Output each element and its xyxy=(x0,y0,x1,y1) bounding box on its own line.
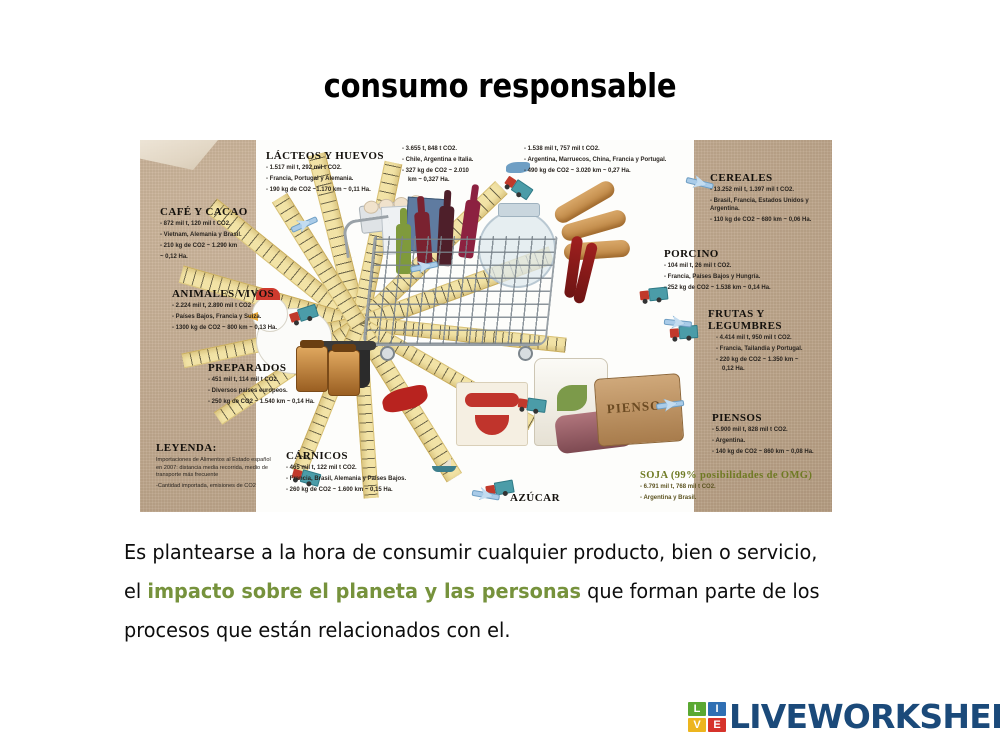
section-line-3: - 252 kg de CO2 ~ 1.538 km ~ 0,14 Ha. xyxy=(664,285,792,293)
pepper-illustration xyxy=(380,383,430,414)
slide-canvas: consumo responsable xyxy=(0,0,1000,750)
section-line-2: - Brasil, Francia, Estados Unidos y Arge… xyxy=(710,198,822,213)
section-animales-vivos: ANIMALES VIVOS - 2.224 mil t, 2.890 mil … xyxy=(172,288,304,336)
body-paragraph: Es plantearse a la hora de consumir cual… xyxy=(124,533,838,650)
section-lacteos-y-huevos: LÁCTEOS Y HUEVOS - 1.517 mil t, 292 mil … xyxy=(266,150,414,198)
section-line-2: - Diversos países europeos. xyxy=(208,388,340,396)
section-line-2: - Países Bajos, Francia y Suiza. xyxy=(172,314,304,322)
section-line-4: ~ 0,12 Ha. xyxy=(160,254,272,262)
section-line-2: - Chile, Argentina e Italia. xyxy=(402,157,516,165)
liveworksheets-wordmark: LIVEWORKSHEETS xyxy=(729,697,1000,736)
section-cereales: CEREALES - 13.252 mil t, 1.397 mil t CO2… xyxy=(710,172,822,228)
section-heading: ANIMALES VIVOS xyxy=(172,288,304,300)
logo-tile-e: E xyxy=(708,718,726,732)
feed-sack-illustration: PIENSO xyxy=(594,373,685,447)
section-line-1: - 465 mil t, 122 mil t CO2. xyxy=(286,465,436,473)
logo-tile-l: L xyxy=(688,702,706,716)
sugar-bag-illustration xyxy=(456,382,528,446)
section-heading: FRUTAS Y LEGUMBRES xyxy=(708,308,828,332)
section-line-3: - 327 kg de CO2 ~ 2.010 xyxy=(402,168,516,176)
section-heading: CAFÉ Y CACAO xyxy=(160,206,272,218)
section-heading: CÁRNICOS xyxy=(286,450,436,462)
truck-icon xyxy=(639,287,666,305)
section-line-1: - 2.224 mil t, 2.890 mil t CO2 xyxy=(172,303,304,311)
cart-wheel xyxy=(380,346,395,361)
section-line-3: - 260 kg de CO2 ~ 1.600 km ~ 0,15 Ha. xyxy=(286,487,436,495)
section-line-1: - 13.252 mil t, 1.397 mil t CO2. xyxy=(710,187,822,195)
section-line-3: - 190 kg de CO2 ~1.170 km ~ 0,11 Ha. xyxy=(266,187,414,195)
section-line-1: - 1.517 mil t, 292 mil t CO2. xyxy=(266,165,414,173)
legend-heading: LEYENDA: xyxy=(156,442,276,454)
section-line-2: - Francia, Portugal y Alemania. xyxy=(266,176,414,184)
section-line-3: - 1300 kg de CO2 ~ 800 km ~ 0,13 Ha. xyxy=(172,325,304,333)
feed-sack-label: PIENSO xyxy=(606,397,661,417)
section-line-2: - Argentina, Marruecos, China, Francia y… xyxy=(524,157,692,165)
section-line-1: - 6.791 mil t, 768 mil t CO2. xyxy=(640,484,820,492)
section-porcino: PORCINO - 104 mil t, 26 mil t CO2. - Fra… xyxy=(664,248,792,296)
section-line-1: - 4.414 mil t, 950 mil t CO2. xyxy=(708,335,828,343)
infographic-image: PIENSO CAFÉ Y CACAO - 872 mil t, 120 mil… xyxy=(140,140,832,512)
section-line-3: - 490 kg de CO2 ~ 3.020 km ~ 0,27 Ha. xyxy=(524,168,692,176)
section-frutas-y-legumbres: FRUTAS Y LEGUMBRES - 4.414 mil t, 950 mi… xyxy=(708,308,828,377)
cart-wheel xyxy=(518,346,533,361)
liveworksheets-logo-icon: L I V E xyxy=(688,702,726,732)
section-pescados: - 1.538 mil t, 757 mil t CO2. - Argentin… xyxy=(524,146,692,179)
azucar-label: AZÚCAR xyxy=(510,492,560,504)
section-line-4: 0,12 Ha. xyxy=(708,366,828,374)
logo-tile-i: I xyxy=(708,702,726,716)
section-line-1: - 1.538 mil t, 757 mil t CO2. xyxy=(524,146,692,154)
torn-paper-corner xyxy=(140,140,218,170)
cart-basket xyxy=(362,236,558,346)
section-heading: LÁCTEOS Y HUEVOS xyxy=(266,150,414,162)
page-title: consumo responsable xyxy=(60,66,940,105)
section-line-3: - 220 kg de CO2 ~ 1.350 km ~ xyxy=(708,357,828,365)
section-line-2: - Vietnam, Alemania y Brasil. xyxy=(160,232,272,240)
body-highlight: impacto sobre el planeta y las personas xyxy=(147,579,581,603)
liveworksheets-logo[interactable]: L I V E LIVEWORKSHEETS xyxy=(688,697,1000,736)
airplane-icon xyxy=(663,315,690,330)
section-carnicos: CÁRNICOS - 465 mil t, 122 mil t CO2. - F… xyxy=(286,450,436,498)
section-line-2: - Francia, Países Bajos y Hungría. xyxy=(664,274,792,282)
logo-tile-v: V xyxy=(688,718,706,732)
section-vinos: - 3.655 t, 848 t CO2. - Chile, Argentina… xyxy=(402,146,516,188)
section-line-2: - Argentina. xyxy=(712,438,832,446)
section-line-2: - Francia, Brasil, Alemania y Países Baj… xyxy=(286,476,436,484)
section-heading: PREPARADOS xyxy=(208,362,340,374)
section-line-1: - 872 mil t, 120 mil t CO2. xyxy=(160,221,272,229)
legend-line-2: -Cantidad importada, emisiones de CO2 xyxy=(156,483,276,491)
section-cafe-y-cacao: CAFÉ Y CACAO - 872 mil t, 120 mil t CO2.… xyxy=(160,206,272,265)
section-line-4: km ~ 0,327 Ha. xyxy=(402,177,516,185)
section-line-1: - 451 mil t, 114 mil t CO2. xyxy=(208,377,340,385)
section-preparados: PREPARADOS - 451 mil t, 114 mil t CO2. -… xyxy=(208,362,340,410)
section-soja: SOJA (99% posibilidades de OMG) - 6.791 … xyxy=(640,470,820,506)
section-line-3: - 210 kg de CO2 ~ 1.290 km xyxy=(160,243,272,251)
section-line-1: - 104 mil t, 26 mil t CO2. xyxy=(664,263,792,271)
section-heading: PORCINO xyxy=(664,248,792,260)
section-line-2: - Argentina y Brasil. xyxy=(640,495,820,503)
section-heading: CEREALES xyxy=(710,172,822,184)
section-heading: SOJA (99% posibilidades de OMG) xyxy=(640,470,820,481)
section-line-1: - 5.900 mil t, 828 mil t CO2. xyxy=(712,427,832,435)
section-line-3: - 140 kg de CO2 ~ 860 km ~ 0,08 Ha. xyxy=(712,449,832,457)
section-heading: PIENSOS xyxy=(712,412,832,424)
legend-block: LEYENDA: Importaciones de Alimentos al E… xyxy=(156,442,276,494)
section-line-3: - 110 kg de CO2 ~ 680 km ~ 0,06 Ha. xyxy=(710,217,822,225)
section-line-1: - 3.655 t, 848 t CO2. xyxy=(402,146,516,154)
section-line-2: - Francia, Tailandia y Portugal. xyxy=(708,346,828,354)
legend-line-1: Importaciones de Alimentos al Estado esp… xyxy=(156,457,276,480)
section-line-3: - 250 kg de CO2 ~ 1.540 km ~ 0,14 Ha. xyxy=(208,399,340,407)
section-piensos: PIENSOS - 5.900 mil t, 828 mil t CO2. - … xyxy=(712,412,832,460)
